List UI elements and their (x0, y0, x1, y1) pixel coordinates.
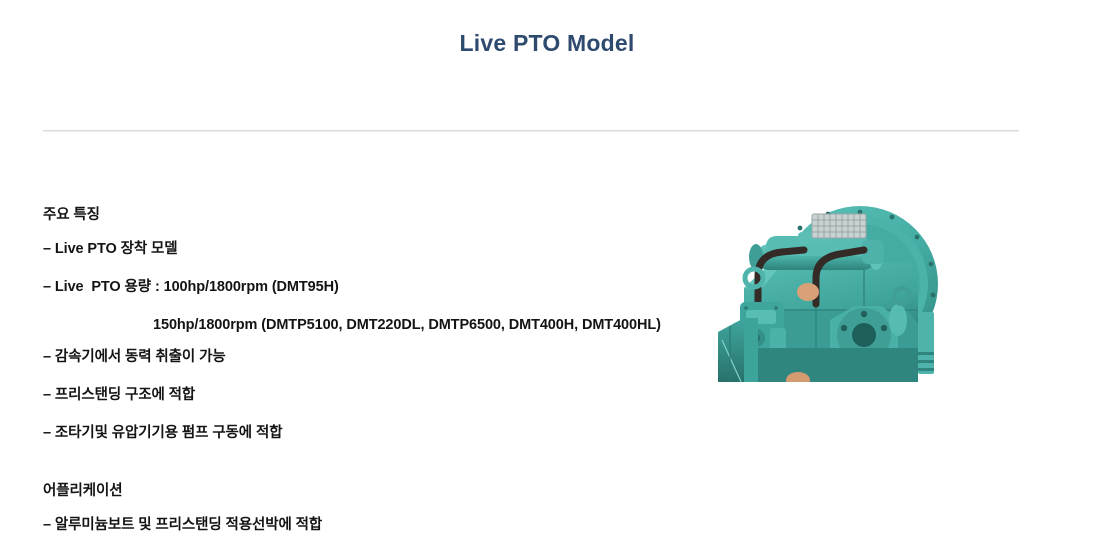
feature-item-continuation: 150hp/1800rpm (DMTP5100, DMT220DL, DMTP6… (43, 315, 683, 335)
feature-item: – Live PTO 장착 모델 (43, 239, 683, 259)
feature-item: – 프리스탠딩 구조에 적합 (43, 385, 683, 405)
horizontal-rule (43, 130, 1019, 132)
marine-gearbox-illustration (712, 192, 962, 382)
features-heading: 주요 특징 (43, 205, 683, 225)
orange-plug (797, 283, 819, 301)
divider (43, 130, 1019, 133)
feature-item: – 감속기에서 동력 취출이 가능 (43, 347, 683, 367)
application-item: – 알루미늄보트 및 프리스탠딩 적용선박에 적합 (43, 515, 683, 535)
product-image (712, 192, 962, 382)
feature-item: – Live PTO 용량 : 100hp/1800rpm (DMT95H) (43, 277, 683, 297)
application-heading: 어플리케이션 (43, 481, 683, 501)
cooling-fins (918, 312, 934, 374)
feature-item: – 조타기및 유압기기용 펌프 구동에 적합 (43, 423, 683, 443)
cooler-grid-plate (812, 214, 866, 238)
page-title: Live PTO Model (0, 0, 1094, 58)
content-column: 주요 특징 – Live PTO 장착 모델 – Live PTO 용량 : 1… (43, 205, 683, 535)
